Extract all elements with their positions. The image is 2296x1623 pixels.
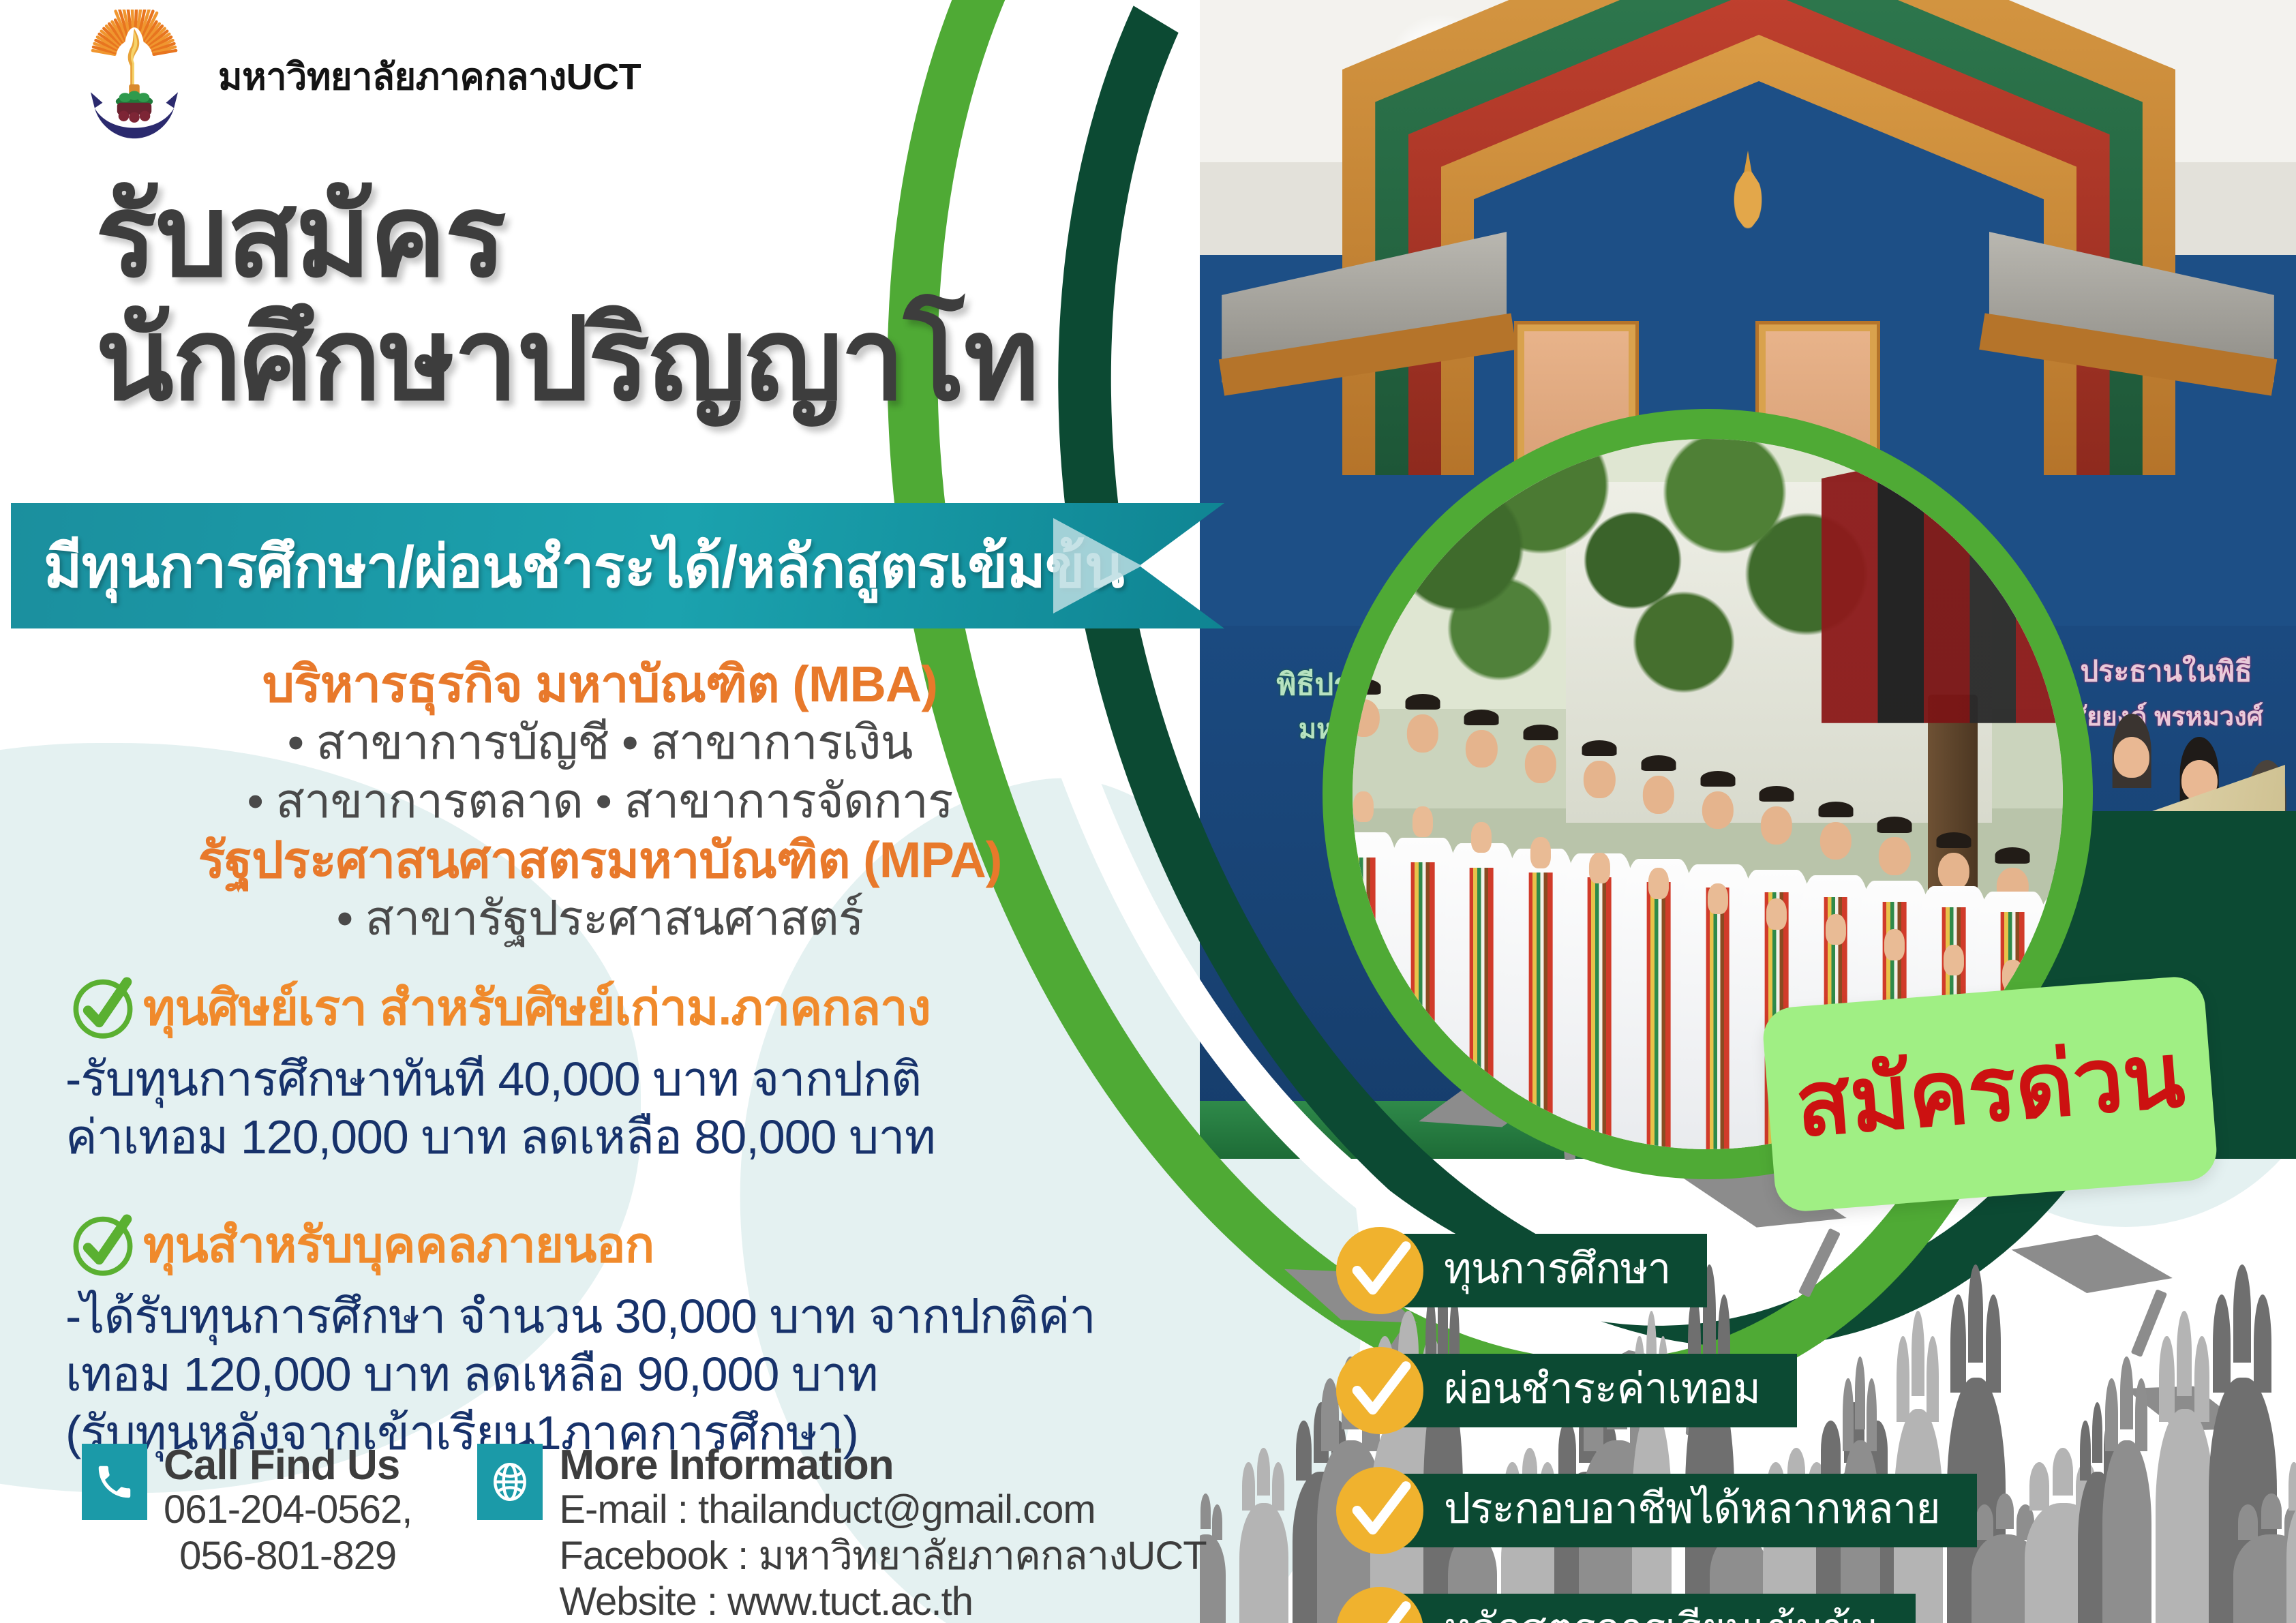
contact-phone-title: Call Find Us <box>164 1444 412 1487</box>
check-icon <box>1336 1347 1423 1434</box>
contact-section: Call Find Us 061-204-0562, 056-801-829 <box>82 1444 1207 1623</box>
check-icon <box>1336 1587 1423 1623</box>
feature-badge: ผ่อนชำระค่าเทอม <box>1336 1347 1977 1434</box>
contact-website[interactable]: Website : www.tuct.ac.th <box>559 1579 1206 1623</box>
contact-more-information[interactable]: More Information E-mail : thailanduct@gm… <box>477 1444 1206 1623</box>
scholarship-line: เทอม 120,000 บาท ลดเหลือ 90,000 บาท <box>65 1346 1197 1404</box>
feature-badge: ประกอบอาชีพได้หลากหลาย <box>1336 1467 1977 1554</box>
scholarship-line: -รับทุนการศึกษาทันที 40,000 บาท จากปกติ <box>65 1050 1197 1108</box>
scholarship-title: ทุนสำหรับบุคคลภายนอก <box>143 1205 654 1284</box>
raised-hand-silhouette <box>2102 1440 2151 1623</box>
green-check-circle-icon <box>65 970 140 1045</box>
scholarship-heading: ทุนสำหรับบุคคลภายนอก <box>65 1205 1197 1284</box>
scholarship-block-external: ทุนสำหรับบุคคลภายนอก -ได้รับทุนการศึกษา … <box>65 1205 1197 1462</box>
contact-info-title: More Information <box>559 1444 1206 1487</box>
poster-root: พิธีประสาทปริญญาบัตร มหาวิทยาลัยภาคกลาง … <box>0 0 2296 1623</box>
contact-facebook[interactable]: Facebook : มหาวิทยาลัยภาคกลางUCT <box>559 1533 1206 1579</box>
scholarship-title: ทุนศิษย์เรา สำหรับศิษย์เก่าม.ภาคกลาง <box>143 968 931 1046</box>
contact-phone-number-1: 061-204-0562, <box>164 1487 412 1532</box>
globe-icon <box>477 1444 543 1520</box>
program-major: • สาขาการบัญชี • สาขาการเงิน <box>0 714 1200 772</box>
feature-badge: ทุนการศึกษา <box>1336 1227 1977 1314</box>
brand-name: มหาวิทยาลัยภาคกลางUCT <box>218 47 641 106</box>
check-icon <box>1336 1467 1423 1554</box>
program-title: รัฐประศาสนศาสตรมหาบัณฑิต (MPA) <box>0 830 1200 890</box>
check-icon <box>1336 1227 1423 1314</box>
feature-badge-label: ผ่อนชำระค่าเทอม <box>1396 1354 1797 1427</box>
green-check-circle-icon <box>65 1207 140 1282</box>
torch-flame-emblem-icon <box>68 10 200 143</box>
contact-email[interactable]: E-mail : thailanduct@gmail.com <box>559 1487 1206 1532</box>
page-title: รับสมัคร นักศึกษาปริญญาโท <box>95 175 1038 422</box>
scholarship-body: -รับทุนการศึกษาทันที 40,000 บาท จากปกติ … <box>65 1050 1197 1167</box>
highlights-banner-text: มีทุนการศึกษา/ผ่อนชำระได้/หลักสูตรเข้มข้… <box>11 519 1124 613</box>
headline-line-2: นักศึกษาปริญญาโท <box>95 298 1038 421</box>
brand-bar: มหาวิทยาลัยภาคกลางUCT <box>68 10 641 143</box>
phone-icon <box>82 1444 147 1520</box>
program-major: • สาขารัฐประศาสนศาสตร์ <box>0 890 1200 947</box>
scholarship-block-alumni: ทุนศิษย์เรา สำหรับศิษย์เก่าม.ภาคกลาง -รั… <box>65 968 1197 1167</box>
apply-now-badge[interactable]: สมัครด่วน <box>1761 975 2219 1213</box>
scholarship-line: ค่าเทอม 120,000 บาท ลดเหลือ 80,000 บาท <box>65 1108 1197 1166</box>
scholarship-line: -ได้รับทุนการศึกษา จำนวน 30,000 บาท จากป… <box>65 1288 1197 1346</box>
contact-phone-number-2: 056-801-829 <box>164 1533 412 1579</box>
program-title: บริหารธุรกิจ มหาบัณฑิต (MBA) <box>0 654 1200 714</box>
program-list: บริหารธุรกิจ มหาบัณฑิต (MBA)• สาขาการบัญ… <box>0 654 1200 948</box>
contact-phone[interactable]: Call Find Us 061-204-0562, 056-801-829 <box>82 1444 412 1579</box>
scholarship-heading: ทุนศิษย์เรา สำหรับศิษย์เก่าม.ภาคกลาง <box>65 968 1197 1046</box>
headline-line-1: รับสมัคร <box>95 175 1038 298</box>
feature-badge-label: ประกอบอาชีพได้หลากหลาย <box>1396 1474 1977 1547</box>
feature-badge: หลักสูตรการเรียนเข้มข้น <box>1336 1587 1977 1623</box>
raised-hand-silhouette <box>2156 1409 2214 1623</box>
feature-badge-list: ทุนการศึกษาผ่อนชำระค่าเทอมประกอบอาชีพได้… <box>1336 1227 1977 1623</box>
banner-arrow-decoration <box>1053 518 1142 613</box>
raised-hand-silhouette <box>1239 1503 1288 1623</box>
feature-badge-label: หลักสูตรการเรียนเข้มข้น <box>1396 1594 1916 1623</box>
feature-badge-label: ทุนการศึกษา <box>1396 1234 1707 1307</box>
scholarship-body: -ได้รับทุนการศึกษา จำนวน 30,000 บาท จากป… <box>65 1288 1197 1462</box>
left-content: มหาวิทยาลัยภาคกลางUCT รับสมัคร นักศึกษาป… <box>0 0 1227 1623</box>
program-major: • สาขาการตลาด • สาขาการจัดการ <box>0 772 1200 830</box>
highlights-banner: มีทุนการศึกษา/ผ่อนชำระได้/หลักสูตรเข้มข้… <box>11 503 1224 628</box>
apply-now-label: สมัครด่วน <box>1792 1030 2186 1150</box>
graduation-cap-icon <box>1995 1221 2178 1375</box>
